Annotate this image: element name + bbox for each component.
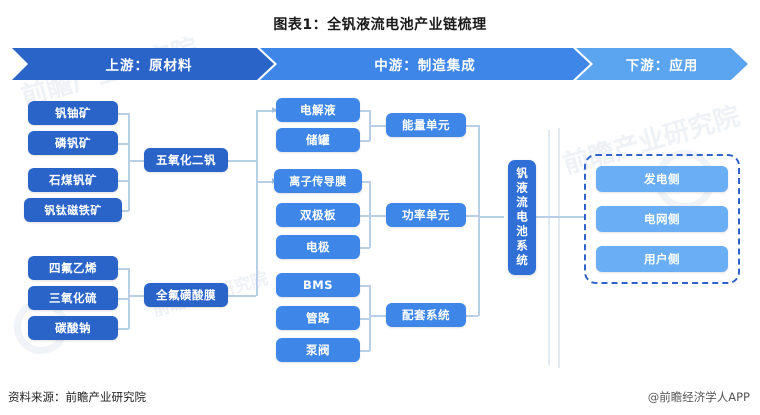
connector [369, 285, 371, 351]
node-raw-membrane-2[interactable]: 碳酸钠 [28, 316, 118, 340]
soft-divider [558, 128, 560, 368]
page-title: 图表1：全钒液流电池产业链梳理 [0, 14, 760, 34]
banner-upstream: 上游：原材料 [12, 48, 280, 80]
node-application-grid[interactable]: 电网侧 [596, 206, 728, 232]
connector [466, 215, 478, 217]
stage-banner: 上游：原材料 中游：制造集成 下游：应用 [12, 48, 748, 80]
node-intermediate-pfsa[interactable]: 全氟磺酸膜 [144, 283, 228, 307]
connector [256, 181, 258, 296]
node-raw-vanadium-3[interactable]: 钒钛磁铁矿 [24, 198, 122, 222]
node-raw-membrane-0[interactable]: 四氟乙烯 [28, 256, 118, 280]
banner-downstream: 下游：应用 [576, 48, 748, 80]
connector [369, 215, 386, 217]
node-component-bipolar-plate[interactable]: 双极板 [276, 203, 360, 227]
connector [466, 125, 478, 127]
connector [536, 216, 584, 218]
connector [369, 125, 386, 127]
node-component-pipeline[interactable]: 管路 [276, 306, 360, 330]
node-raw-vanadium-0[interactable]: 钒铀矿 [28, 101, 118, 125]
brand-credit: @前瞻经济学人APP [648, 389, 750, 405]
node-raw-vanadium-2[interactable]: 石煤钒矿 [28, 168, 118, 192]
chart-canvas: 前瞻产业研究院 前瞻产业研究院 前瞻产业研究院 图表1：全钒液流电池产业链梳理 … [0, 0, 760, 415]
node-component-ion-membrane[interactable]: 离子传导膜 [274, 169, 362, 193]
node-intermediate-v2o5[interactable]: 五氧化二钒 [144, 148, 228, 172]
connector [466, 315, 478, 317]
node-unit-power[interactable]: 功率单元 [386, 203, 466, 227]
connector [128, 113, 130, 211]
soft-divider [548, 130, 550, 365]
node-application-user[interactable]: 用户侧 [596, 246, 728, 272]
node-component-tank[interactable]: 储罐 [276, 128, 360, 152]
source-note: 资料来源：前瞻产业研究院 [8, 389, 146, 405]
node-unit-energy[interactable]: 能量单元 [386, 113, 466, 137]
node-component-pump-valve[interactable]: 泵阀 [276, 338, 360, 362]
node-raw-membrane-1[interactable]: 三氧化硫 [28, 286, 118, 310]
node-system-vrfb[interactable]: 钒液流电池系统 [508, 160, 536, 275]
connector [228, 295, 256, 297]
node-component-electrode[interactable]: 电极 [276, 235, 360, 259]
banner-midstream: 中游：制造集成 [260, 48, 590, 80]
connector [478, 125, 480, 316]
node-component-electrolyte[interactable]: 电解液 [276, 98, 360, 122]
connector [128, 295, 144, 297]
node-application-generation[interactable]: 发电侧 [596, 166, 728, 192]
connector [256, 110, 258, 182]
connector [128, 268, 130, 329]
connector [478, 216, 504, 218]
node-component-bms[interactable]: BMS [276, 273, 360, 297]
connector [128, 160, 144, 162]
node-raw-vanadium-1[interactable]: 磷钒矿 [28, 131, 118, 155]
node-unit-support[interactable]: 配套系统 [386, 303, 466, 327]
connector [369, 315, 386, 317]
connector [228, 160, 256, 162]
